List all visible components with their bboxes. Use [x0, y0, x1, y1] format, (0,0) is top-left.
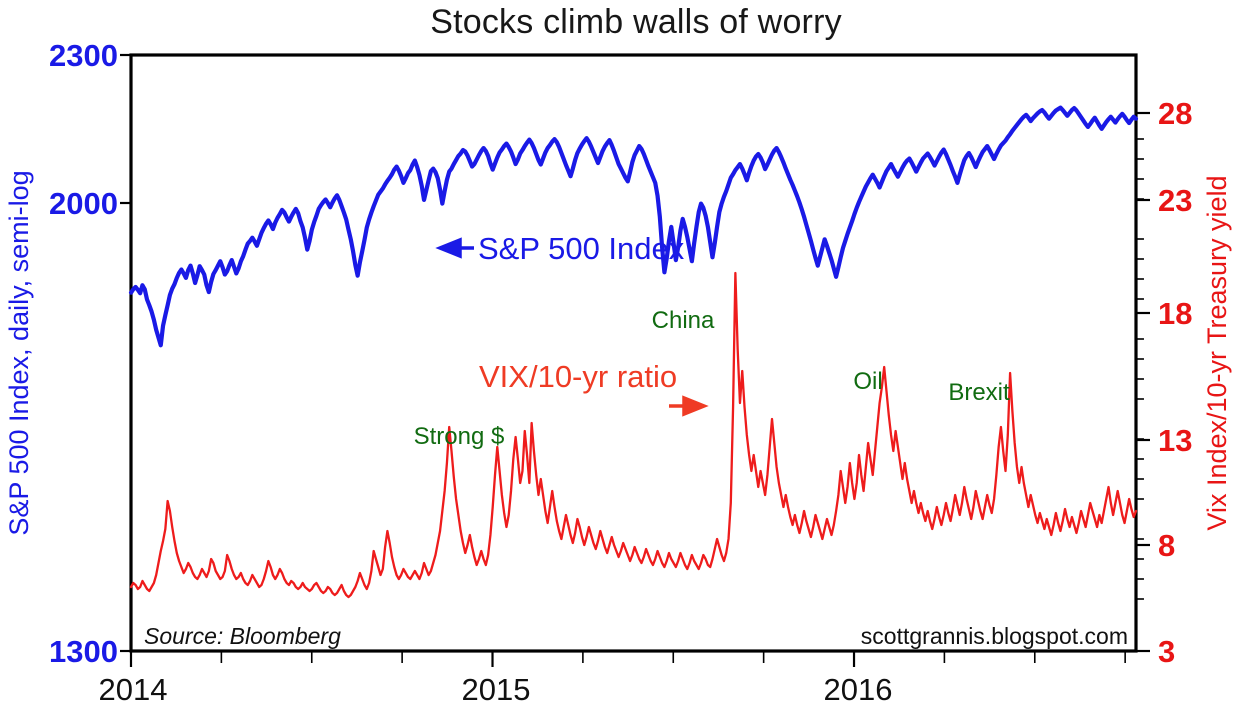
annotation-china: China: [652, 307, 715, 334]
x-tick-2016: 2016: [824, 672, 893, 707]
annotation-oil: Oil: [853, 368, 882, 395]
y-right-axis-title: Vix Index/10-yr Treasury yield: [1202, 175, 1232, 530]
y-left-tick-1300: 1300: [49, 634, 118, 669]
source-note: Source: Bloomberg: [144, 623, 341, 649]
y-left-tick-2300: 2300: [49, 38, 118, 73]
sp500-series-label: S&P 500 Index: [478, 231, 685, 266]
y-right-tick-18: 18: [1158, 296, 1192, 331]
x-tick-2015: 2015: [462, 672, 531, 707]
y-right-tick-3: 3: [1158, 634, 1175, 669]
chart-container: Stocks climb walls of worry 2300 2000 13…: [0, 0, 1246, 718]
y-right-tick-13: 13: [1158, 423, 1192, 458]
y-right-tick-8: 8: [1158, 528, 1175, 563]
y-right-tick-28: 28: [1158, 96, 1192, 131]
y-left-axis-title: S&P 500 Index, daily, semi-log: [4, 170, 34, 535]
watermark-link[interactable]: scottgrannis.blogspot.com: [861, 623, 1128, 649]
page-title: Stocks climb walls of worry: [430, 3, 842, 41]
annotation-brexit: Brexit: [948, 379, 1010, 406]
chart-canvas: Stocks climb walls of worry 2300 2000 13…: [0, 0, 1246, 718]
annotation-strong-dollar: Strong $: [414, 423, 505, 450]
y-right-tick-23: 23: [1158, 183, 1192, 218]
x-tick-2014: 2014: [99, 672, 168, 707]
vix-series-label: VIX/10-yr ratio: [479, 359, 677, 394]
y-left-tick-2000: 2000: [49, 186, 118, 221]
